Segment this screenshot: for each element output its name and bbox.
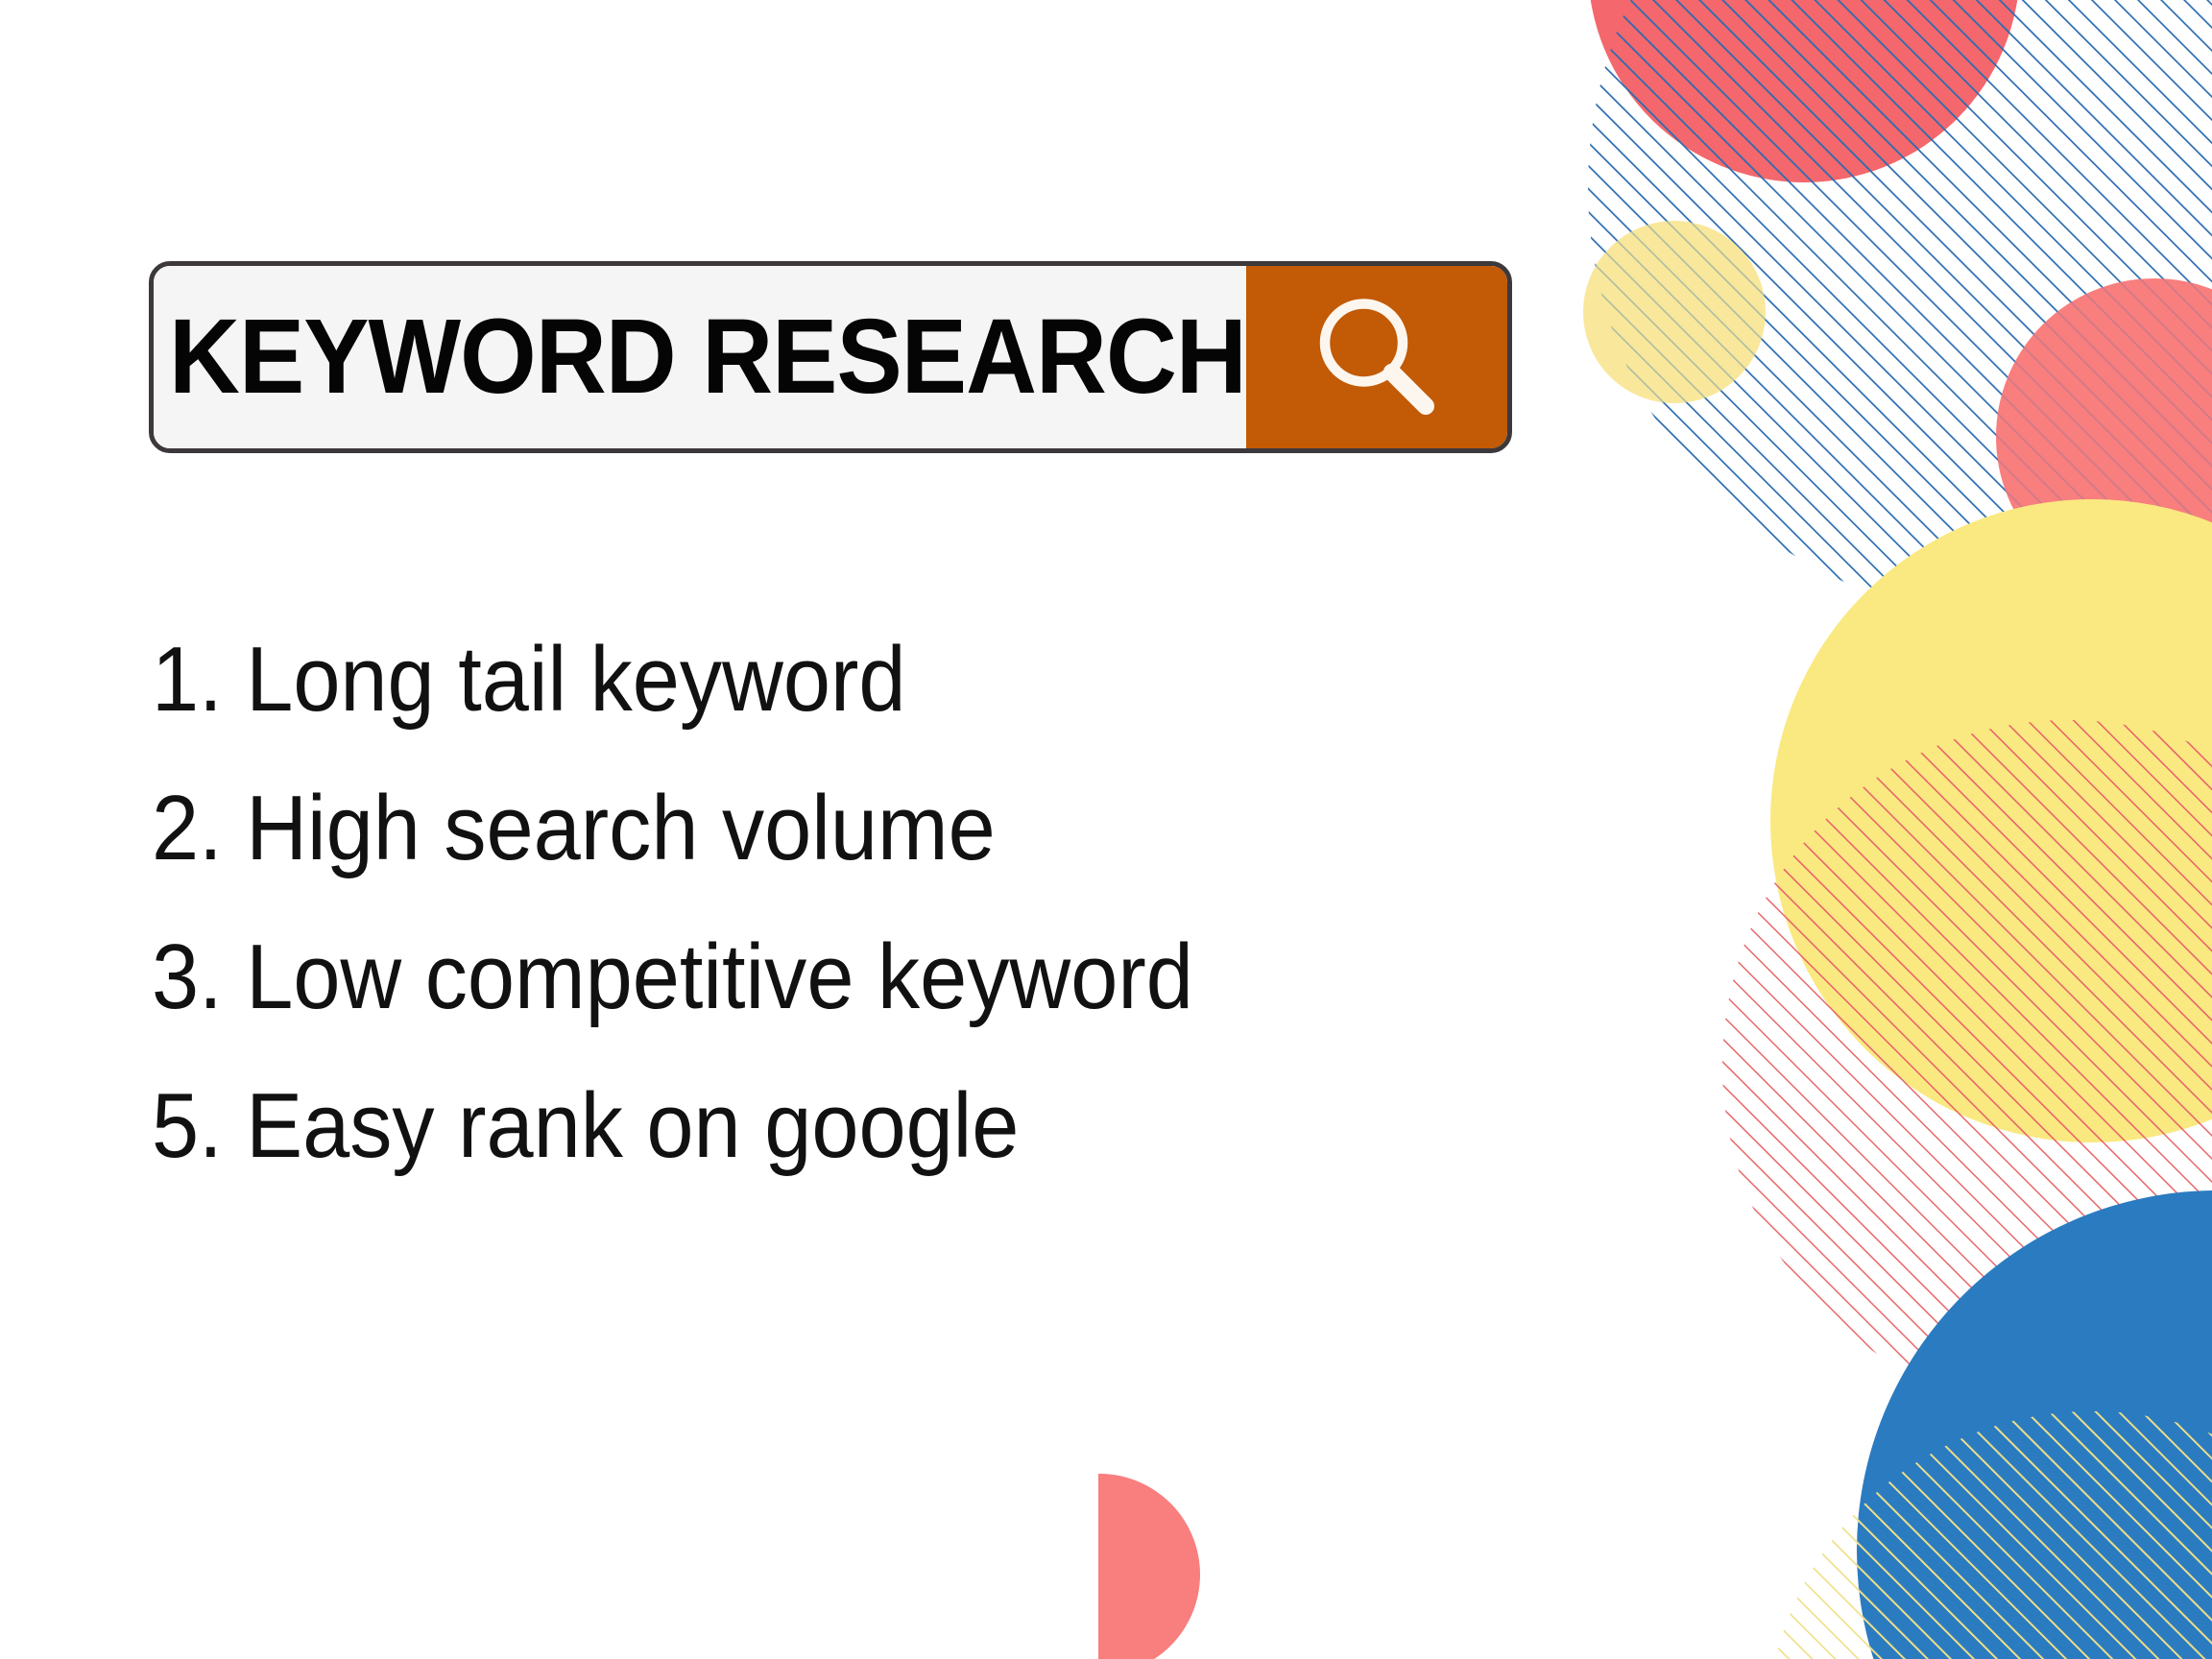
yellow-circle-large-stripes bbox=[1722, 720, 2212, 1411]
keyword-points-list: 1. Long tail keyword 2. High search volu… bbox=[152, 605, 1592, 1200]
coral-circle-top bbox=[1588, 0, 2020, 182]
blue-hatch-circle-top bbox=[1588, 0, 2212, 619]
search-input[interactable]: KEYWORD RESEARCH bbox=[154, 266, 1246, 448]
list-item: 3. Low competitive keyword bbox=[152, 902, 1477, 1051]
yellow-hatch-circle-bottom bbox=[1766, 1411, 2212, 1659]
coral-circle-top-stripes bbox=[1588, 0, 2212, 619]
search-button[interactable] bbox=[1246, 266, 1507, 448]
list-item: 2. High search volume bbox=[152, 754, 1477, 902]
search-input-value: KEYWORD RESEARCH bbox=[169, 304, 1246, 410]
list-item: 1. Long tail keyword bbox=[152, 605, 1477, 754]
blue-circle-bottom-stripes bbox=[1766, 1411, 2212, 1659]
yellow-circle-small-stripes bbox=[1588, 0, 2212, 619]
list-item: 5. Easy rank on google bbox=[152, 1051, 1477, 1200]
red-hatch-circle-middle bbox=[1722, 720, 2212, 1411]
coral-circle-bottom-small bbox=[1098, 1474, 1200, 1659]
search-bar[interactable]: KEYWORD RESEARCH bbox=[149, 261, 1512, 453]
yellow-circle-large bbox=[1770, 499, 2212, 1142]
magnifier-icon bbox=[1305, 285, 1449, 429]
coral-circle-upper-right bbox=[1996, 278, 2212, 595]
slide-canvas: KEYWORD RESEARCH 1. Long tail keyword 2.… bbox=[0, 0, 2212, 1659]
blue-circle-bottom bbox=[1857, 1190, 2212, 1659]
coral-circle-upper-right-stripes bbox=[1588, 0, 2212, 619]
yellow-circle-small-top bbox=[1583, 221, 1766, 403]
